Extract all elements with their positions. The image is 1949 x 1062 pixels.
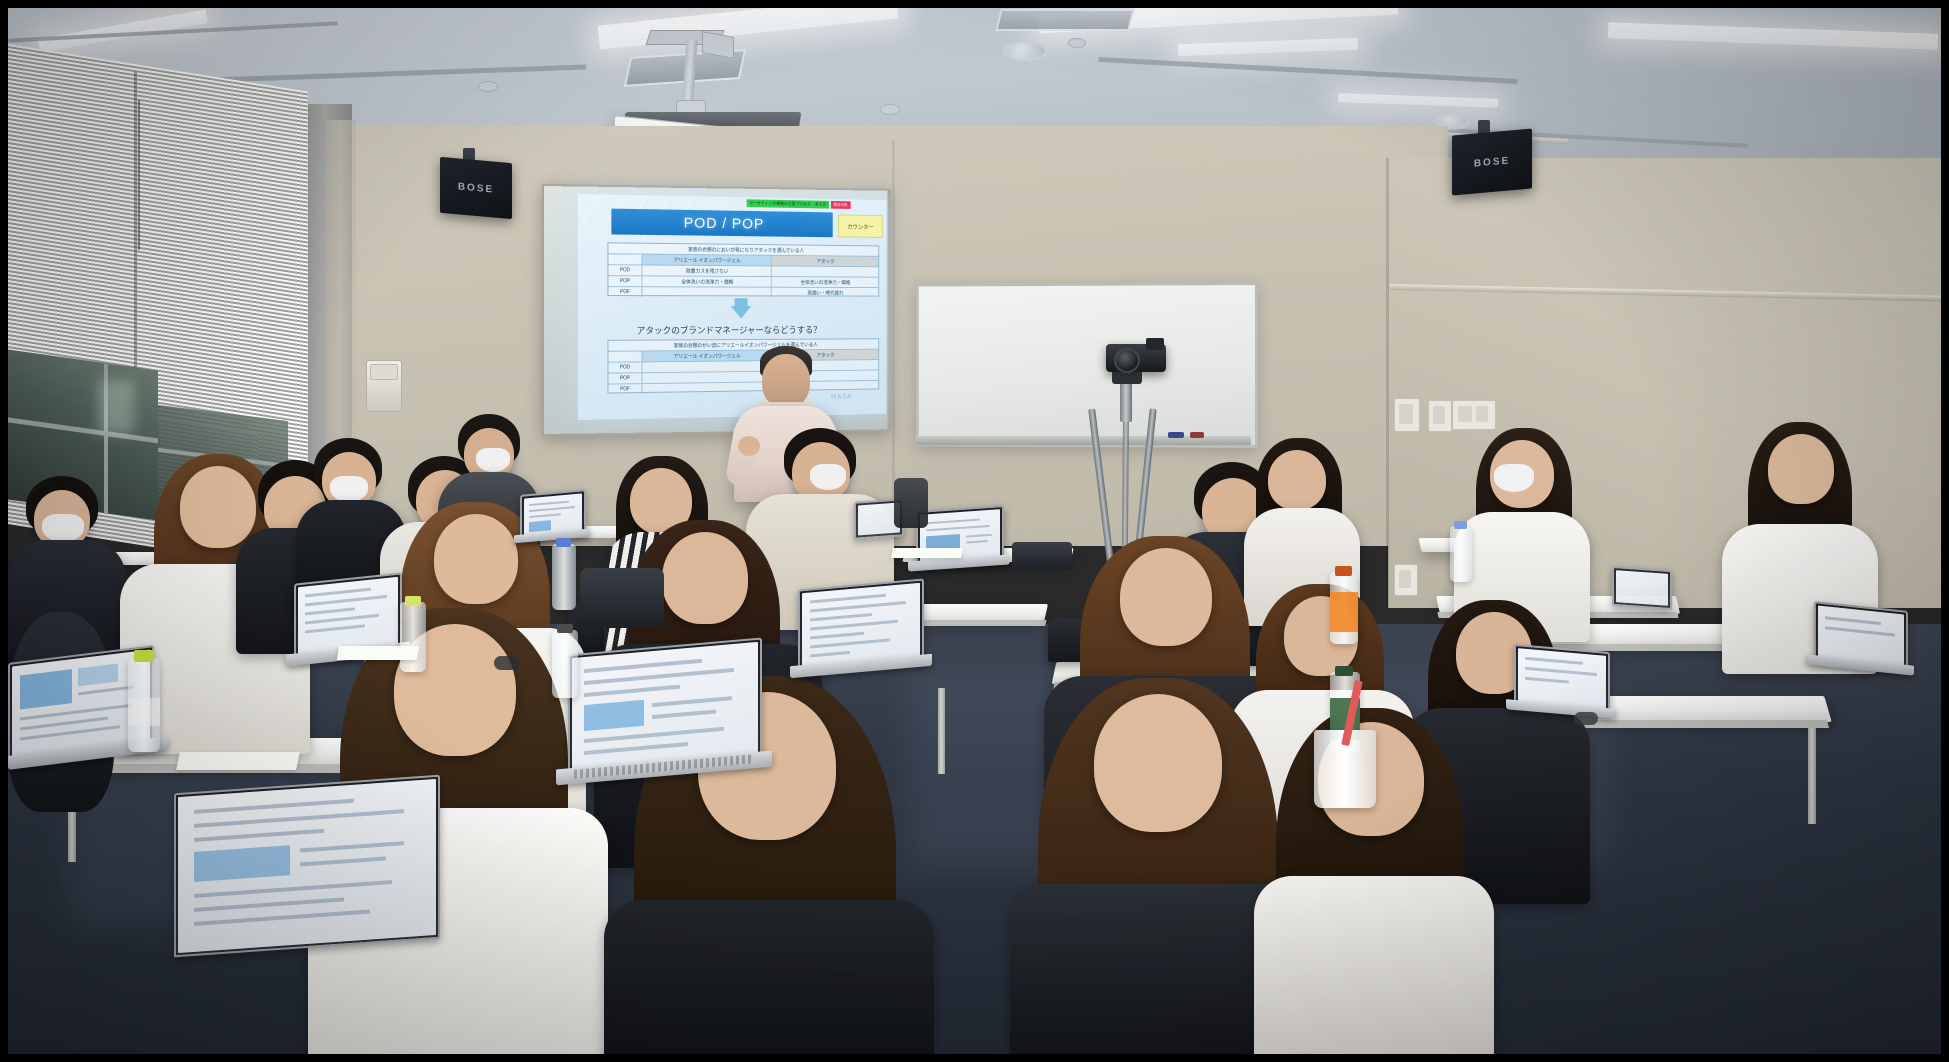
classroom-photo-scene: BOSE BOSE マーケティング戦略の立案プロセス 考え方 競合分析 POD …: [0, 0, 1949, 1062]
person-head: [1094, 694, 1222, 832]
camera-grip: [1146, 338, 1164, 350]
person-head: [662, 532, 748, 624]
slide-counter-badge: カウンター: [838, 214, 883, 237]
table-col-blank: [608, 351, 642, 361]
ceiling-sprinkler: [880, 104, 900, 115]
bottle-label: [128, 698, 160, 726]
whiteboard: [916, 282, 1258, 448]
screen-text-line: [810, 651, 850, 657]
paper-sheet[interactable]: [891, 548, 963, 558]
wall-plate-inner: [1433, 406, 1445, 424]
slide-title: POD / POP: [611, 209, 832, 238]
wall-seam: [1386, 158, 1389, 608]
person-head: [1268, 450, 1326, 510]
mouse[interactable]: [1574, 712, 1598, 725]
screen-text-line: [194, 799, 354, 814]
wall-outlet-inner: [1399, 570, 1411, 588]
row-label-pod: POD: [608, 265, 642, 275]
laptop-display: [572, 642, 758, 772]
screen-text-line: [194, 910, 370, 926]
row-label-pop: POP: [608, 373, 642, 383]
row-cell: [642, 287, 771, 297]
desk-leg: [938, 688, 945, 774]
slide-down-arrow-icon: [731, 306, 751, 319]
screen-text-line: [194, 829, 324, 842]
screen-text-line: [1525, 657, 1583, 665]
person-body: [604, 900, 934, 1062]
water-bottle[interactable]: [1450, 526, 1472, 582]
slide-tab-green: マーケティング戦略の立案プロセス 考え方: [747, 199, 829, 208]
slide-table-bottom: 家族の衣類のがい流にアリエールイオンパワージェルを選んでいる人 アリエール イオ…: [607, 338, 879, 393]
screen-text-line: [194, 880, 392, 898]
slide-question: アタックのブランドマネージャーならどうする？: [637, 323, 822, 336]
bottle-cap: [557, 624, 573, 633]
bottle-cap: [405, 596, 421, 606]
screen-text-line: [652, 710, 716, 720]
screen-text-line: [78, 685, 134, 695]
laptop-display: [178, 779, 436, 953]
bottle-cap: [1335, 666, 1353, 676]
paper-sheet[interactable]: [337, 646, 419, 660]
screen-text-line: [305, 614, 379, 625]
screen-text-line: [1525, 677, 1569, 684]
window-glow: [98, 380, 134, 434]
screen-text-line: [529, 513, 561, 518]
screen-text-line: [529, 506, 575, 512]
light-switch[interactable]: [1458, 406, 1472, 422]
mouse[interactable]: [494, 656, 520, 670]
screen-text-line: [652, 696, 732, 707]
row-cell: [642, 361, 771, 372]
row-cell: [642, 372, 771, 383]
row-cell: [642, 382, 771, 394]
screen-text-line: [810, 632, 864, 640]
whiteboard-marker: [1190, 432, 1204, 438]
screen-block: [194, 845, 290, 882]
row-cell: 全体洗いの洗浄力・価格: [642, 276, 771, 286]
screen-text-line: [810, 620, 898, 631]
paper-sheet[interactable]: [176, 752, 300, 770]
water-bottle[interactable]: [552, 630, 578, 698]
screen-block: [20, 669, 72, 709]
bottle-cap: [1454, 521, 1467, 529]
screen-text-line: [305, 595, 387, 607]
laptop-display: [1616, 570, 1668, 606]
row-label-pof: POF: [608, 384, 642, 394]
face-mask: [1494, 464, 1534, 492]
water-bottle[interactable]: [400, 602, 426, 672]
person-head: [1120, 548, 1212, 646]
wall-phone-handset[interactable]: [370, 364, 398, 380]
presenter-hand-left: [738, 436, 760, 456]
bose-speaker-left: BOSE: [440, 157, 512, 219]
screen-text-line: [584, 727, 724, 743]
light-switch[interactable]: [1476, 406, 1488, 422]
tripod-column: [1120, 378, 1132, 422]
face-mask: [476, 448, 510, 472]
person-body: [1254, 876, 1494, 1062]
blind-cord: [138, 100, 140, 250]
ceiling-sprinkler: [1068, 38, 1086, 48]
screen-text-line: [810, 638, 890, 648]
face-mask: [42, 514, 84, 542]
laptop-screen[interactable]: [1612, 566, 1672, 610]
screen-text-line: [584, 685, 680, 697]
screen-text-line: [810, 613, 872, 621]
table-col-attack: アタック: [772, 256, 879, 266]
table-col-blank: [608, 254, 642, 264]
screen-text-line: [966, 534, 992, 538]
ceiling-vent: [995, 9, 1134, 31]
presenter-head: [762, 354, 810, 408]
screen-text-line: [194, 897, 344, 911]
person-head: [1768, 434, 1834, 504]
row-label-pod: POD: [608, 362, 642, 372]
screen-text-line: [810, 601, 906, 612]
row-cell: 高価い・時代遅れ: [772, 288, 879, 298]
person-head: [180, 466, 256, 548]
screen-text-line: [584, 742, 688, 755]
bottle-cap: [556, 538, 571, 547]
person-head: [434, 514, 518, 604]
slide-table-top: 家族の衣類のにおいが気になりアタックを選んでいる人 アリエール イオンパワージェ…: [607, 242, 879, 296]
whiteboard-marker: [1168, 432, 1184, 438]
row-cell: 除菌カスを残さない: [642, 265, 771, 276]
bottle-cap: [1335, 566, 1352, 576]
screen-text-line: [966, 540, 988, 544]
camera-lens: [1114, 348, 1140, 373]
screen-text-line: [1825, 616, 1881, 625]
screen-text-line: [1825, 626, 1895, 636]
backpack[interactable]: [894, 478, 928, 528]
screen-block: [584, 700, 644, 731]
screen-text-line: [300, 841, 404, 852]
desk-leg: [1808, 728, 1816, 824]
bag[interactable]: [580, 568, 664, 628]
screen-text-line: [305, 588, 371, 598]
screen-text-line: [926, 525, 990, 531]
wall-plate-inner: [1399, 404, 1413, 424]
projected-slide: マーケティング戦略の立案プロセス 考え方 競合分析 POD / POP カウンタ…: [578, 194, 886, 420]
screen-text-line: [584, 659, 702, 673]
bose-speaker-right: BOSE: [1452, 129, 1532, 196]
screen-block: [529, 520, 551, 532]
bag[interactable]: [1012, 542, 1072, 570]
ceiling-speaker-icon: [1003, 41, 1047, 61]
table-row: POF 高価い・時代遅れ: [608, 287, 878, 297]
bose-logo-text: BOSE: [458, 181, 494, 195]
slide-watermark: MASA: [831, 394, 852, 401]
table-col-ariel: アリエール イオンパワージェル: [642, 350, 771, 361]
row-cell: [772, 266, 879, 276]
row-cell: 全体洗いの洗浄力・価格: [772, 277, 879, 287]
bottle-label: [1330, 592, 1358, 632]
water-bottle[interactable]: [552, 544, 576, 610]
screen-text-line: [300, 856, 386, 866]
screen-text-line: [529, 501, 569, 506]
slide-tab-red: 競合分析: [831, 201, 851, 209]
bottle-cap: [134, 650, 154, 662]
screen-text-line: [810, 594, 886, 604]
face-mask: [810, 464, 846, 490]
laptop-screen[interactable]: [174, 775, 440, 958]
laptop-display: [802, 583, 920, 667]
screen-text-line: [1525, 667, 1597, 676]
screen-block: [78, 663, 118, 686]
ceiling-sprinkler: [478, 81, 498, 92]
row-label-pop: POP: [608, 276, 642, 286]
row-label-pof: POF: [608, 287, 642, 297]
screen-text-line: [926, 519, 980, 525]
table-col-ariel: アリエール イオンパワージェル: [642, 255, 771, 266]
screen-text-line: [305, 624, 365, 633]
slide-tab-bar: マーケティング戦略の立案プロセス 考え方 競合分析: [747, 199, 851, 209]
bose-logo-text: BOSE: [1474, 155, 1510, 169]
face-mask: [330, 476, 368, 502]
screen-text-line: [305, 607, 355, 615]
screen-text-line: [194, 809, 404, 828]
